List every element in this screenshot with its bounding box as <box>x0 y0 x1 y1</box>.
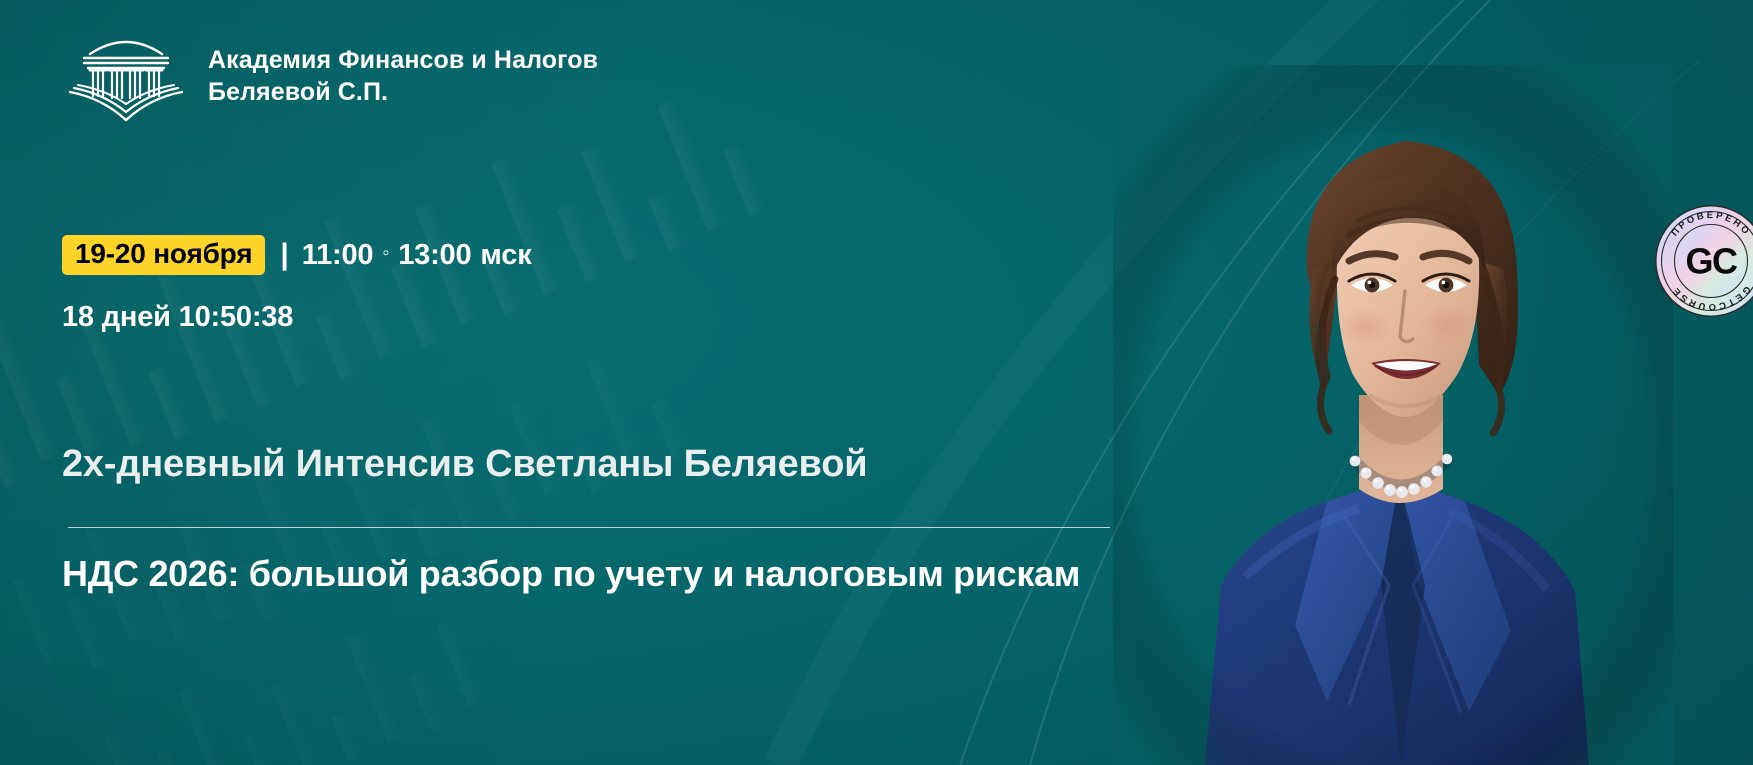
promo-banner: Академия Финансов и Налогов Беляевой С.П… <box>0 0 1753 765</box>
schedule-separator: | <box>280 240 288 270</box>
schedule-time: 11:00 ◦ 13:00 мск <box>302 241 532 270</box>
date-badge: 19-20 ноября <box>62 235 265 275</box>
time-end: 13:00 <box>398 241 471 270</box>
time-dot-icon: ◦ <box>382 243 389 263</box>
getcourse-verified-badge-icon[interactable]: ПРОВЕРЕНО GETCOURSE GC <box>1655 205 1753 317</box>
academy-columns-book-icon <box>62 28 190 124</box>
time-start: 11:00 <box>302 241 374 270</box>
page-subtitle: НДС 2026: большой разбор по учету и нало… <box>62 553 1080 594</box>
speaker-portrait <box>1113 65 1673 765</box>
headline-divider <box>68 527 1110 528</box>
brand-logo-block: Академия Финансов и Налогов Беляевой С.П… <box>62 28 598 124</box>
brand-title: Академия Финансов и Налогов Беляевой С.П… <box>208 44 598 109</box>
schedule-row: 19-20 ноября | 11:00 ◦ 13:00 мск <box>62 233 532 277</box>
timezone-label: мск <box>480 241 531 270</box>
page-title: 2х-дневный Интенсив Светланы Беляевой <box>62 443 867 487</box>
countdown-timer: 18 дней 10:50:38 <box>62 303 293 332</box>
badge-monogram: GC <box>1686 241 1739 282</box>
